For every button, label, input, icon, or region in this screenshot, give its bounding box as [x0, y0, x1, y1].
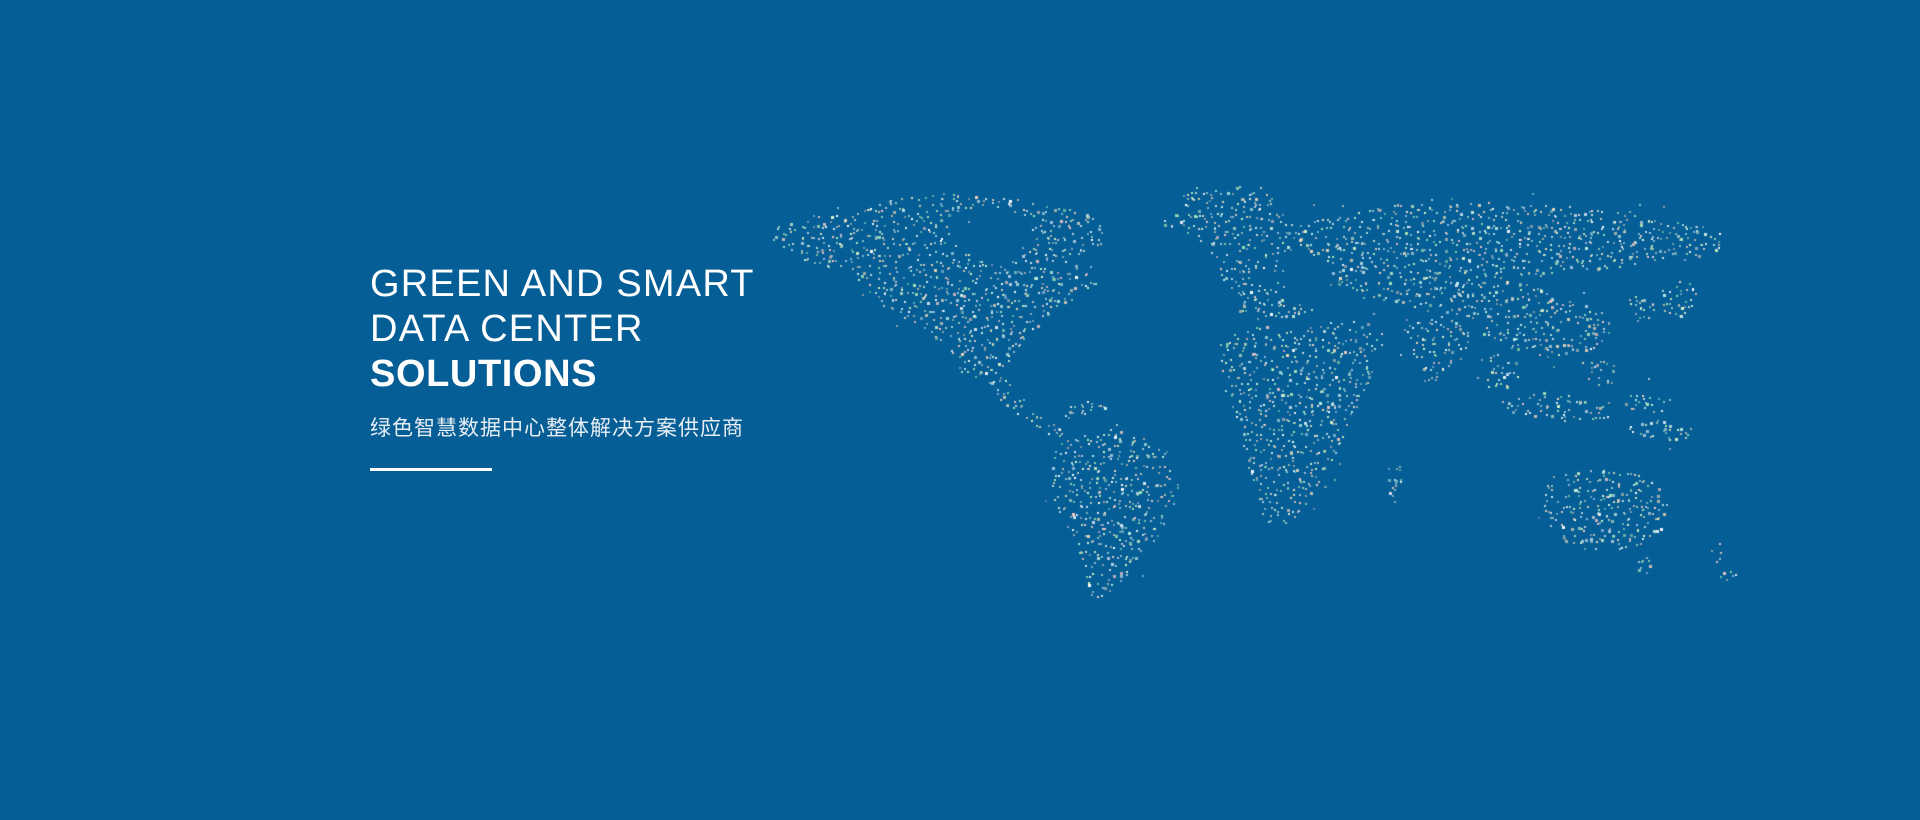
hero-divider: [370, 468, 492, 471]
hero-copy-block: GREEN AND SMART DATA CENTER SOLUTIONS 绿色…: [370, 262, 1130, 471]
headline-line-3: SOLUTIONS: [370, 352, 1130, 397]
hero-banner: GREEN AND SMART DATA CENTER SOLUTIONS 绿色…: [0, 0, 1920, 820]
headline-line-2: DATA CENTER: [370, 307, 1130, 352]
hero-subtitle: 绿色智慧数据中心整体解决方案供应商: [370, 414, 1130, 444]
headline-line-1: GREEN AND SMART: [370, 262, 1130, 307]
